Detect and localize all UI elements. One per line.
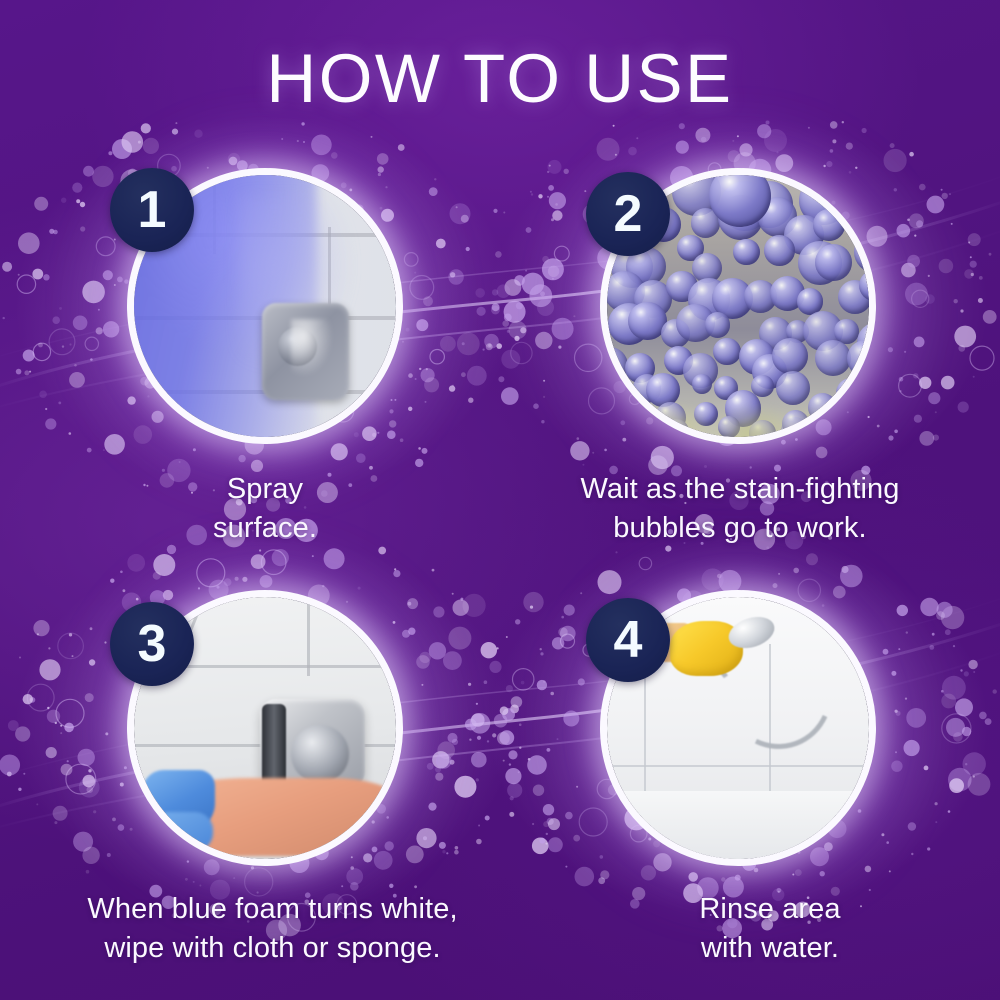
step-3-number: 3 [138,618,167,670]
page-title: HOW TO USE [0,44,1000,113]
step-2-caption: Wait as the stain-fighting bubbles go to… [520,470,960,547]
step-1-number: 1 [138,184,167,236]
step-1-caption: Spray surface. [65,470,465,547]
step-2-number-badge: 2 [586,172,670,256]
step-4-caption: Rinse area with water. [595,890,945,967]
step-4-number-badge: 4 [586,598,670,682]
step-2-number: 2 [614,188,643,240]
step-4-number: 4 [614,614,643,666]
step-1-number-badge: 1 [110,168,194,252]
step-3-number-badge: 3 [110,602,194,686]
how-to-use-infographic: HOW TO USE 1 [0,0,1000,1000]
step-3-caption: When blue foam turns white, wipe with cl… [35,890,510,967]
